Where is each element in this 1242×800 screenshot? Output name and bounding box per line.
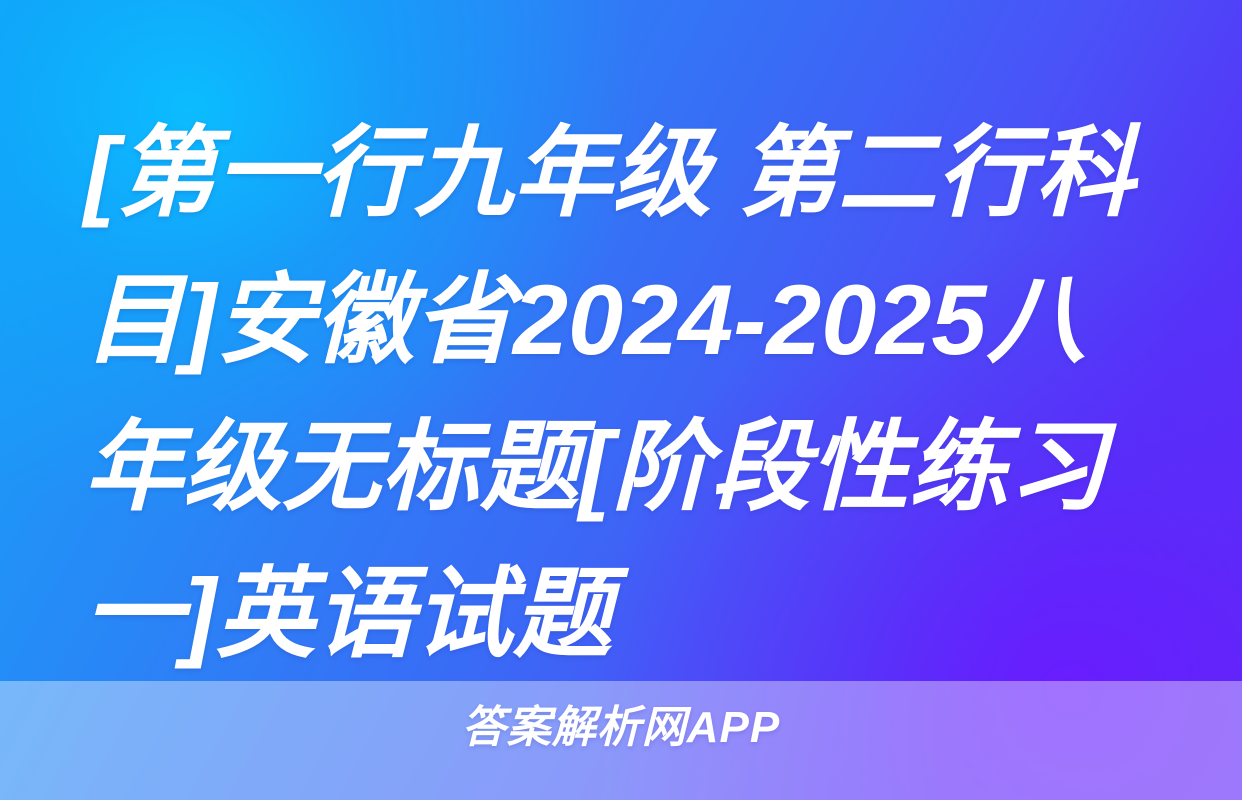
page-title: [第一行九年级 第二行科目]安徽省2024-2025八年级无标题[阶段性练习一]…: [84, 99, 1166, 687]
app-watermark: 答案解析网APP: [0, 698, 1242, 758]
title-card: [第一行九年级 第二行科目]安徽省2024-2025八年级无标题[阶段性练习一]…: [0, 0, 1242, 800]
